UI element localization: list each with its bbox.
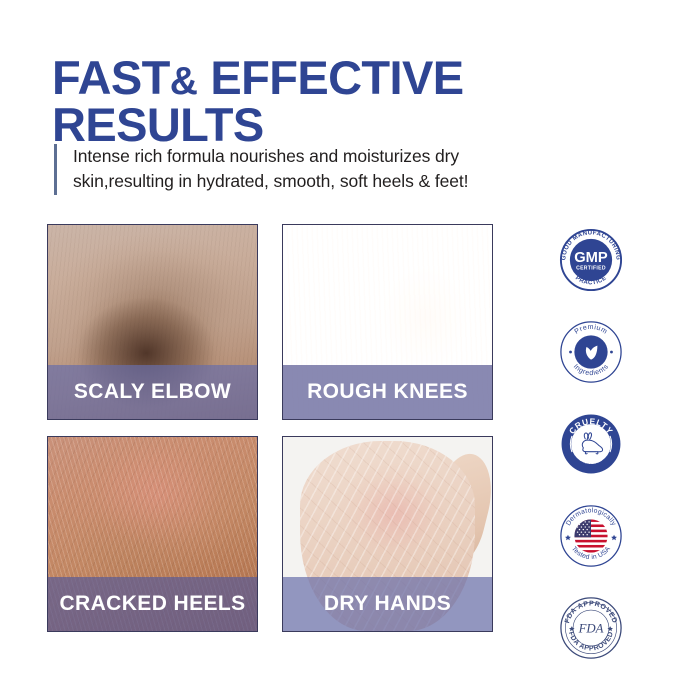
caption-bar-cracked-heels: CRACKED HEELS: [48, 577, 257, 631]
caption-label: ROUGH KNEES: [307, 380, 468, 404]
subtitle-block: Intense rich formula nourishes and moist…: [54, 144, 634, 195]
fda-center-text: FDA: [578, 621, 604, 635]
dermatologically-tested-usa-badge-icon: Dermatologically Tested in USA: [559, 504, 623, 568]
headline-effective: EFFECTIVE: [198, 51, 464, 104]
caption-bar-dry-hands: DRY HANDS: [283, 577, 492, 631]
certification-badge-column: GOOD MANUFACTURING PRACTICE GMP CERTIFIE…: [536, 228, 646, 660]
subtitle-accent-bar: [54, 144, 57, 195]
headline-line-1: FAST& EFFECTIVE: [52, 51, 463, 104]
headline-fast: FAST: [52, 51, 170, 104]
caption-label: SCALY ELBOW: [74, 380, 231, 404]
page-title: FAST& EFFECTIVE RESULTS: [52, 55, 612, 148]
premium-ingredients-badge-icon: Premium Ingredients: [559, 320, 623, 384]
cruelty-free-badge-icon: CRUELTY FREE: [559, 412, 623, 476]
gmp-certified-badge-icon: GOOD MANUFACTURING PRACTICE GMP CERTIFIE…: [559, 228, 623, 292]
condition-tile-dry-hands: DRY HANDS: [282, 436, 493, 632]
gmp-center-subtext: CERTIFIED: [576, 266, 606, 272]
condition-tile-cracked-heels: CRACKED HEELS: [47, 436, 258, 632]
condition-tile-rough-knees: ROUGH KNEES: [282, 224, 493, 420]
caption-bar-rough-knees: ROUGH KNEES: [283, 365, 492, 419]
subtitle-line-1: Intense rich formula nourishes and moist…: [73, 144, 468, 169]
caption-label: CRACKED HEELS: [59, 592, 245, 616]
subtitle-line-2: skin,resulting in hydrated, smooth, soft…: [73, 169, 468, 194]
subtitle-text: Intense rich formula nourishes and moist…: [73, 144, 468, 195]
gmp-center-text: GMP: [574, 250, 608, 266]
condition-tile-scaly-elbow: SCALY ELBOW: [47, 224, 258, 420]
product-benefit-infographic: FAST& EFFECTIVE RESULTS Intense rich for…: [0, 0, 679, 679]
headline-ampersand: &: [170, 60, 198, 103]
condition-photo-grid: SCALY ELBOW ROUGH KNEES CRACKED HEELS DR…: [47, 224, 493, 656]
fda-approved-badge-icon: FDA APPROVED FDA APPROVED FDA: [559, 596, 623, 660]
caption-label: DRY HANDS: [324, 592, 451, 616]
caption-bar-scaly-elbow: SCALY ELBOW: [48, 365, 257, 419]
